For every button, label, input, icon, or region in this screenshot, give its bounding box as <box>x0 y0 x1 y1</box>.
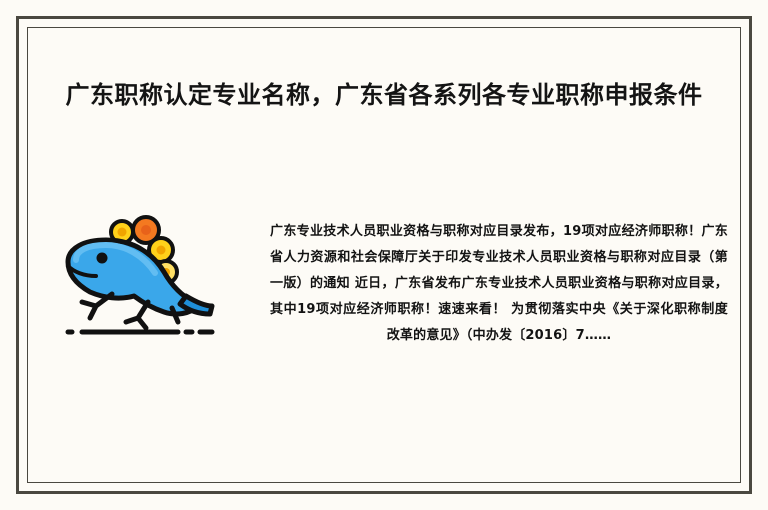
dinosaur-front-leg <box>82 294 112 318</box>
page-title-container: 广东职称认定专业名称，广东省各系列各专业职称申报条件 <box>52 76 716 114</box>
page-title: 广东职称认定专业名称，广东省各系列各专业职称申报条件 <box>52 76 716 114</box>
dinosaur-eye <box>97 253 108 264</box>
dinosaur-hind-leg <box>126 302 148 328</box>
article-content: 广东专业技术人员职业资格与职称对应目录发布，19项对应经济师职称！广东省人力资源… <box>40 200 728 420</box>
blue-dinosaur-illustration <box>60 210 220 340</box>
page-root: 广东职称认定专业名称，广东省各系列各专业职称申报条件 <box>0 0 768 510</box>
article-body-text: 广东专业技术人员职业资格与职称对应目录发布，19项对应经济师职称！广东省人力资源… <box>270 219 728 349</box>
